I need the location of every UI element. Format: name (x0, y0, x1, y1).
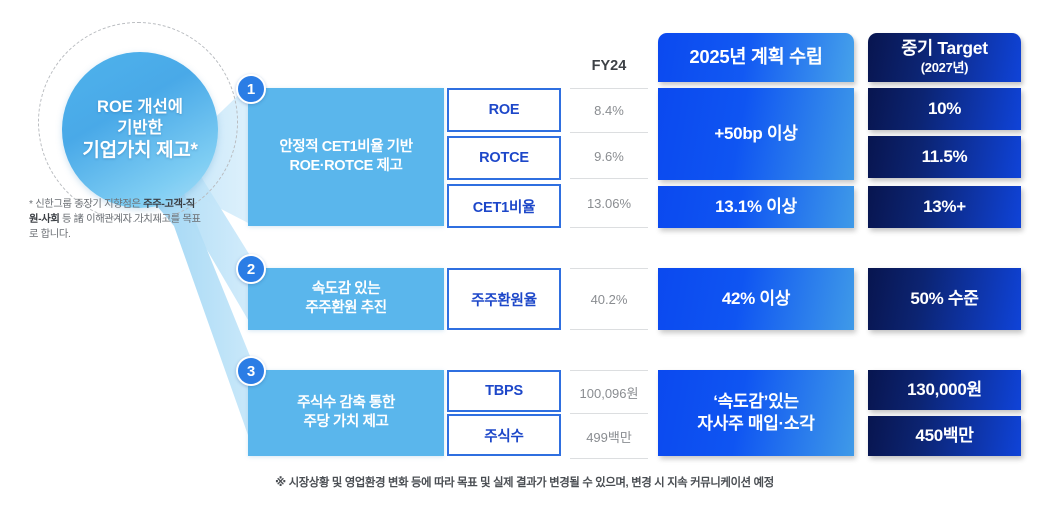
target-value-cet1: 13%+ (868, 186, 1021, 228)
kpi-label-tbps: TBPS (447, 370, 561, 412)
plan-value-cet1: 13.1% 이상 (658, 186, 854, 228)
plan-value-buyback-line-2: 자사주 매입·소각 (697, 414, 814, 433)
concept-line-1: ROE 개선에 (82, 97, 197, 118)
row-category-1: 안정적 CET1비율 기반 ROE·ROTCE 제고 (248, 88, 444, 226)
concept-footnote: * 신한그룹 중장기 지향점은 주주-고객-직원-사회 등 諸 이해관계자 가치… (29, 198, 201, 243)
row-category-2: 속도감 있는 주주환원 추진 (248, 268, 444, 330)
row-badge-3: 3 (236, 356, 266, 386)
target-value-roe: 10% (868, 88, 1021, 130)
kpi-label-share-count: 주식수 (447, 414, 561, 456)
row-badge-1: 1 (236, 74, 266, 104)
row-category-2-line-2: 주주환원 추진 (305, 300, 386, 316)
row-category-3-line-2: 주당 가치 제고 (304, 414, 389, 430)
kpi-label-rotce: ROTCE (447, 136, 561, 180)
plan-value-roe-rotce: +50bp 이상 (658, 88, 854, 180)
row-category-3: 주식수 감축 통한 주당 가치 제고 (248, 370, 444, 456)
row-category-3-line-1: 주식수 감축 통한 (297, 395, 395, 411)
concept-line-2: 기반한 (82, 118, 197, 139)
fy24-value-cet1: 13.06% (570, 180, 648, 228)
target-header-title: 중기 Target (901, 38, 988, 60)
row-category-1-line-2: ROE·ROTCE 제고 (290, 158, 403, 174)
concept-line-3: 기업가치 제고* (82, 139, 197, 163)
plan-value-buyback-line-1: ‘속도감’있는 (713, 392, 799, 411)
kpi-label-payout-ratio: 주주환원율 (447, 268, 561, 330)
disclaimer-note: ※ 시장상황 및 영업환경 변화 등에 따라 목표 및 실제 결과가 변경될 수… (0, 474, 1049, 490)
plan-value-payout-ratio: 42% 이상 (658, 268, 854, 330)
plan-column-header: 2025년 계획 수립 (658, 33, 854, 82)
infographic-canvas: ROE 개선에 기반한 기업가치 제고* * 신한그룹 중장기 지향점은 주주-… (0, 0, 1049, 516)
footnote-mark: * (29, 199, 33, 210)
kpi-label-cet1: CET1비율 (447, 184, 561, 228)
target-value-share-count: 450백만 (868, 416, 1021, 456)
fy24-value-tbps: 100,096원 (570, 370, 648, 414)
row-badge-2: 2 (236, 254, 266, 284)
row-category-2-line-1: 속도감 있는 (312, 281, 380, 297)
footnote-line-1: 신한그룹 중장기 지향점은 (35, 199, 140, 210)
fy24-value-roe: 8.4% (570, 88, 648, 133)
target-header-year: (2027년) (901, 60, 988, 76)
plan-value-buyback: ‘속도감’있는 자사주 매입·소각 (658, 370, 854, 456)
kpi-label-roe: ROE (447, 88, 561, 132)
concept-circle: ROE 개선에 기반한 기업가치 제고* (62, 52, 218, 208)
footnote-line-2-tail: 등 (59, 214, 71, 225)
fy24-column-header: FY24 (570, 48, 648, 84)
footnote-line-3: 諸 이해관계자 가치제고를 (74, 214, 180, 225)
target-column-header: 중기 Target (2027년) (868, 33, 1021, 82)
target-value-tbps: 130,000원 (868, 370, 1021, 410)
fy24-value-rotce: 9.6% (570, 134, 648, 179)
row-category-1-line-1: 안정적 CET1비율 기반 (279, 139, 412, 155)
fy24-value-share-count: 499백만 (570, 415, 648, 459)
target-value-rotce: 11.5% (868, 136, 1021, 178)
target-value-payout-ratio: 50% 수준 (868, 268, 1021, 330)
fy24-value-payout-ratio: 40.2% (570, 268, 648, 330)
